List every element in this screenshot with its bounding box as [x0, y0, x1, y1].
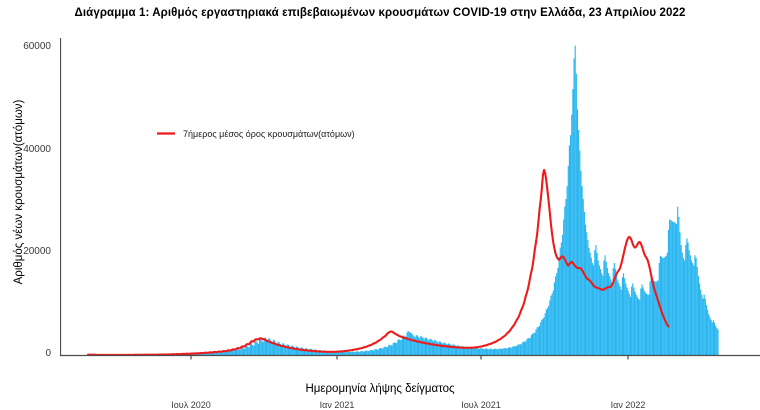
bar [663, 258, 664, 355]
bar [583, 199, 584, 355]
bar [492, 349, 493, 355]
bar [424, 339, 425, 355]
bar [514, 346, 515, 355]
bar [699, 283, 700, 355]
bar [711, 320, 712, 355]
bar [560, 248, 561, 355]
bar [409, 332, 410, 355]
bar [396, 343, 397, 355]
bar [418, 337, 419, 355]
bar [565, 199, 566, 355]
bar [515, 346, 516, 355]
bar [618, 283, 619, 355]
bar [712, 322, 713, 355]
bar [535, 329, 536, 355]
bar [494, 349, 495, 355]
bar [673, 222, 674, 355]
bar [563, 220, 564, 355]
bar [448, 343, 449, 355]
bar [610, 279, 611, 355]
bar [368, 351, 369, 355]
bar [686, 238, 687, 355]
bar [348, 352, 349, 355]
bar [611, 282, 612, 355]
bar [587, 240, 588, 355]
plot-area: 7ήμερος μέσος όρος κρουσμάτων(ατόμων) 02… [60, 38, 760, 356]
bar [562, 235, 563, 355]
bar [571, 115, 572, 355]
bar [545, 313, 546, 355]
bar [443, 342, 444, 355]
bar [363, 351, 364, 355]
bar [487, 349, 488, 355]
bar [682, 253, 683, 355]
bar [675, 223, 676, 355]
bar [360, 351, 361, 355]
bar [646, 294, 647, 355]
bar [394, 342, 395, 355]
bar [679, 232, 680, 355]
bar [230, 351, 231, 355]
bar [666, 256, 667, 355]
bar [693, 266, 694, 355]
bar [637, 297, 638, 355]
bar [511, 348, 512, 355]
bar [371, 350, 372, 355]
bar [694, 255, 695, 355]
bar [249, 347, 250, 355]
bar [473, 348, 474, 355]
bar [595, 245, 596, 355]
bar [510, 347, 511, 355]
bar [692, 263, 693, 355]
bar [357, 351, 358, 355]
bar [573, 58, 574, 355]
bar [532, 334, 533, 355]
bar [519, 344, 520, 355]
y-tick-label: 60000 [9, 41, 51, 52]
bar [548, 306, 549, 355]
bar [558, 257, 559, 355]
bar [504, 348, 505, 355]
bar [479, 349, 480, 355]
bar [696, 258, 697, 355]
bar [370, 350, 371, 355]
bar [552, 294, 553, 355]
bar [641, 284, 642, 355]
bar [362, 351, 363, 355]
bar [569, 145, 570, 355]
bar [677, 207, 678, 355]
bar [656, 281, 657, 355]
bar [349, 352, 350, 355]
bar [603, 260, 604, 355]
bar [633, 288, 634, 355]
bar [250, 344, 251, 355]
bar [234, 351, 235, 356]
bar [254, 342, 255, 355]
bar [432, 340, 433, 355]
legend-line-swatch [156, 128, 176, 139]
bar [499, 349, 500, 355]
bar [501, 349, 502, 355]
bar [621, 290, 622, 355]
bar [417, 336, 418, 355]
bar [367, 351, 368, 355]
bar [685, 245, 686, 355]
y-axis-title: Αριθμός νέων κρουσμάτων(ατόμων) [13, 42, 25, 342]
bar [649, 281, 650, 355]
bar [427, 339, 428, 355]
bar [534, 333, 535, 355]
bar [691, 260, 692, 355]
bar [620, 286, 621, 355]
bar [576, 74, 577, 355]
bar [575, 46, 576, 355]
bar [266, 340, 267, 355]
bar [495, 349, 496, 355]
bar [242, 347, 243, 355]
bar [623, 273, 624, 355]
bar [423, 338, 424, 355]
bar [717, 329, 718, 355]
bar [570, 135, 571, 355]
bar [636, 295, 637, 355]
bar [706, 305, 707, 355]
bar [395, 343, 396, 355]
bar [700, 290, 701, 355]
bar [351, 352, 352, 355]
bar [378, 350, 379, 355]
bar [554, 282, 555, 355]
bar [630, 297, 631, 355]
bar [524, 342, 525, 355]
bar [670, 220, 671, 355]
bar [474, 349, 475, 355]
bar [533, 333, 534, 355]
bar [253, 346, 254, 355]
bar [410, 333, 411, 356]
bar [393, 343, 394, 355]
bar [356, 351, 357, 355]
bar [261, 341, 262, 355]
bar [503, 348, 504, 355]
bar [491, 349, 492, 355]
bar [577, 110, 578, 355]
bar [485, 348, 486, 355]
bar [586, 232, 587, 355]
bar [555, 276, 556, 355]
bar [262, 342, 263, 355]
bar [260, 339, 261, 355]
bar [431, 339, 432, 355]
bar [226, 352, 227, 355]
bar [398, 339, 399, 355]
bar [635, 292, 636, 355]
bar [301, 347, 302, 355]
bar [353, 352, 354, 355]
bar [538, 327, 539, 355]
bar [477, 348, 478, 355]
legend-label: 7ήμερος μέσος όρος κρουσμάτων(ατόμων) [183, 129, 355, 139]
bar [715, 326, 716, 355]
bar [506, 348, 507, 355]
bar [594, 250, 595, 355]
bar [245, 346, 246, 355]
bar [714, 323, 715, 355]
bar [540, 322, 541, 355]
bar [602, 276, 603, 355]
bar [661, 257, 662, 355]
bar [400, 340, 401, 355]
x-tick-label: Ιαν 2021 [297, 400, 377, 410]
bar [383, 347, 384, 355]
bar [374, 349, 375, 355]
bar [520, 344, 521, 355]
bar [256, 341, 257, 355]
bar [420, 336, 421, 355]
bar [640, 289, 641, 355]
bar [530, 338, 531, 355]
bar [267, 341, 268, 355]
bar [527, 338, 528, 355]
bar [379, 348, 380, 355]
x-tick-label: Ιουλ 2020 [151, 400, 231, 410]
bar [549, 300, 550, 355]
bar [600, 269, 601, 355]
bar [592, 263, 593, 355]
bar [537, 327, 538, 355]
bar [244, 349, 245, 355]
bar [388, 345, 389, 355]
bar [698, 276, 699, 355]
bar [628, 291, 629, 355]
bar [664, 257, 665, 355]
bar [478, 348, 479, 355]
bar [237, 349, 238, 355]
bar [523, 342, 524, 355]
bar [508, 348, 509, 355]
bar [651, 276, 652, 355]
bar [547, 308, 548, 355]
bar [386, 347, 387, 355]
bar [238, 350, 239, 355]
bar [397, 340, 398, 355]
bar [387, 347, 388, 355]
bar [347, 352, 348, 355]
bar [690, 255, 691, 355]
bar [639, 300, 640, 355]
bar [709, 317, 710, 355]
bar [607, 268, 608, 355]
bar [402, 337, 403, 355]
bar [713, 320, 714, 355]
bar [441, 343, 442, 355]
bar [497, 349, 498, 355]
page-title: Διάγραμμα 1: Αριθμός εργαστηριακά επιβεβ… [0, 7, 760, 19]
bar [684, 260, 685, 355]
bar [591, 258, 592, 355]
bar [669, 220, 670, 355]
bar [449, 344, 450, 355]
bar [259, 339, 260, 355]
bar [588, 248, 589, 355]
bar [564, 207, 565, 355]
bar [617, 280, 618, 355]
bar [489, 349, 490, 355]
bar [518, 344, 519, 355]
bar [364, 352, 365, 355]
bar [291, 346, 292, 355]
bar [373, 350, 374, 355]
bar [502, 349, 503, 355]
bar [282, 343, 283, 355]
bar [681, 245, 682, 355]
bar [484, 349, 485, 355]
bar [411, 333, 412, 355]
bar [529, 338, 530, 355]
bar [572, 89, 573, 355]
bar [556, 273, 557, 355]
x-tick-label: Ιαν 2022 [588, 400, 668, 410]
bar [599, 266, 600, 355]
bar [401, 340, 402, 355]
bar [590, 253, 591, 355]
bar [608, 273, 609, 355]
bar [632, 283, 633, 355]
bar [296, 346, 297, 355]
bar [341, 352, 342, 355]
bar [344, 352, 345, 355]
bar [645, 293, 646, 355]
bar [598, 260, 599, 355]
bar [638, 299, 639, 355]
bar [516, 346, 517, 355]
bar [643, 288, 644, 355]
bar [716, 328, 717, 355]
bar [585, 225, 586, 355]
bar [644, 291, 645, 355]
bar [251, 343, 252, 355]
bar [625, 283, 626, 355]
bar [500, 348, 501, 355]
bar [705, 299, 706, 355]
bar [678, 217, 679, 355]
bar [248, 347, 249, 355]
bar [593, 266, 594, 355]
bar [542, 319, 543, 355]
bar [365, 351, 366, 355]
bar [553, 291, 554, 355]
bar [493, 349, 494, 355]
bar [297, 347, 298, 355]
bar [439, 341, 440, 355]
bar [229, 351, 230, 355]
bar [539, 326, 540, 355]
bar [580, 171, 581, 355]
bar [482, 349, 483, 355]
bar [507, 348, 508, 355]
bar [257, 343, 258, 355]
bar [426, 338, 427, 355]
bar [419, 338, 420, 355]
bar [345, 352, 346, 355]
bar [652, 278, 653, 355]
bar [702, 299, 703, 355]
bar [683, 258, 684, 355]
bar [704, 295, 705, 355]
bar [605, 255, 606, 355]
bar [557, 268, 558, 355]
bar [531, 335, 532, 355]
bar [389, 345, 390, 355]
bar [596, 253, 597, 355]
bar [413, 336, 414, 355]
bar [674, 222, 675, 355]
bar [435, 340, 436, 355]
bar [476, 348, 477, 355]
y-tick-label: 40000 [9, 144, 51, 155]
bar [258, 344, 259, 355]
bar [305, 348, 306, 355]
bar [488, 349, 489, 355]
bar [382, 349, 383, 355]
bar [480, 348, 481, 355]
bar [355, 352, 356, 355]
bar [509, 347, 510, 355]
covid-cases-chart-figure: Διάγραμμα 1: Αριθμός εργαστηριακά επιβεβ… [0, 0, 760, 406]
bar [568, 166, 569, 355]
bar [526, 339, 527, 355]
bar [671, 221, 672, 355]
legend: 7ήμερος μέσος όρος κρουσμάτων(ατόμων) [156, 128, 355, 139]
bar [252, 345, 253, 355]
bar [512, 346, 513, 355]
bar [653, 280, 654, 355]
bar [658, 280, 659, 355]
bar [412, 335, 413, 355]
bar [550, 296, 551, 355]
bar [662, 258, 663, 355]
bar [647, 295, 648, 355]
bar [622, 277, 623, 355]
bar [375, 349, 376, 355]
bar [629, 294, 630, 355]
bar [648, 295, 649, 355]
bar [444, 343, 445, 355]
bar [366, 351, 367, 356]
bar [359, 352, 360, 355]
bar [416, 335, 417, 355]
bar [579, 150, 580, 355]
bar [544, 317, 545, 355]
bar [352, 351, 353, 355]
bar [287, 344, 288, 355]
bar [429, 339, 430, 355]
bar [546, 310, 547, 356]
bar [689, 250, 690, 355]
bar [578, 130, 579, 355]
bar [606, 262, 607, 355]
bar [470, 348, 471, 355]
bar [667, 253, 668, 355]
bar [380, 348, 381, 355]
bar [701, 295, 702, 355]
bar [601, 273, 602, 355]
bar [525, 342, 526, 356]
bar [421, 337, 422, 355]
bar [584, 212, 585, 355]
